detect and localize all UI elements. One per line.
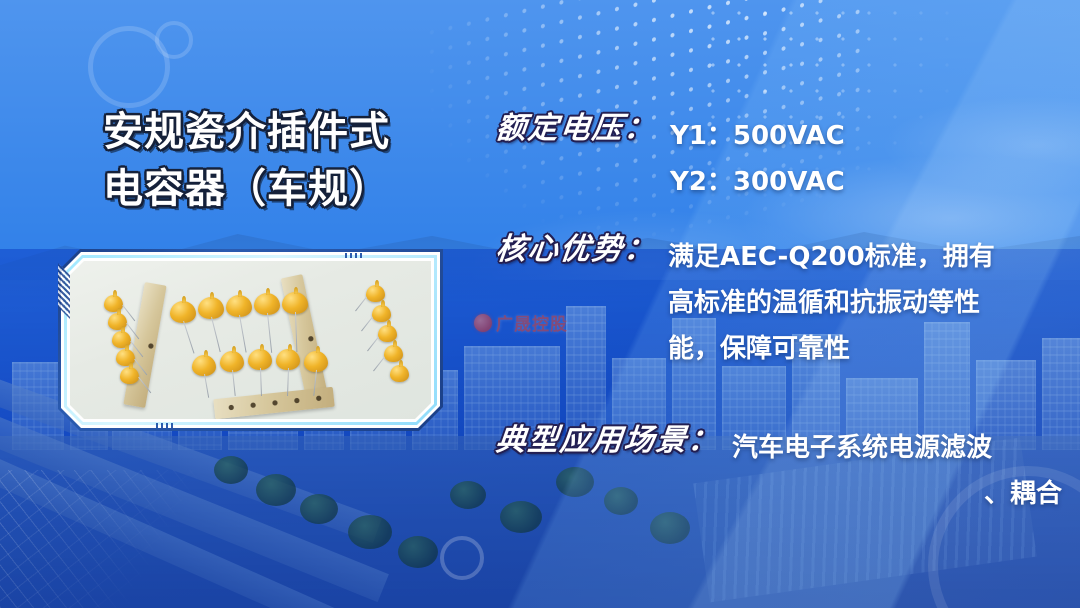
voltage-y2: Y2：300VAC [670, 160, 845, 206]
spec-typical-application-label: 典型应用场景： [494, 424, 721, 457]
advantage-line1: 满足AEC-Q200标准，拥有 [668, 235, 1048, 281]
spec-typical-application-value: 汽车电子系统电源滤波 、耦合 [732, 426, 1062, 518]
product-poster: 广晟控股 安规瓷介插件式 电容器（车规） [0, 0, 1080, 608]
spec-rated-voltage: 额定电压： Y1：500VAC Y2：300VAC [496, 112, 845, 206]
spec-rated-voltage-value: Y1：500VAC Y2：300VAC [670, 114, 845, 206]
application-line1: 汽车电子系统电源滤波 [732, 426, 1062, 472]
advantage-line3: 能，保障可靠性 [668, 327, 1048, 373]
company-logo-icon [474, 314, 492, 332]
frame-tick-marks-bottom [156, 423, 174, 428]
decor-ring-bottom [440, 536, 484, 580]
voltage-y1: Y1：500VAC [670, 114, 845, 160]
page-title-line2: 电容器（车规） [103, 161, 443, 218]
page-title: 安规瓷介插件式 电容器（车规） [103, 104, 443, 218]
advantage-line2: 高标准的温循和抗振动等性 [668, 281, 1048, 327]
product-photo [70, 261, 431, 419]
spec-typical-application: 典型应用场景： 汽车电子系统电源滤波 、耦合 [496, 424, 1080, 518]
page-title-line1: 安规瓷介插件式 [103, 104, 443, 161]
spec-core-advantage: 核心优势： 满足AEC-Q200标准，拥有 高标准的温循和抗振动等性 能，保障可… [496, 233, 1056, 372]
spec-core-advantage-label: 核心优势： [494, 233, 657, 266]
spec-core-advantage-value: 满足AEC-Q200标准，拥有 高标准的温循和抗振动等性 能，保障可靠性 [668, 235, 1048, 372]
application-line2: 、耦合 [732, 472, 1062, 518]
product-image-frame [58, 249, 443, 431]
frame-tick-marks-top [345, 253, 365, 258]
decor-ring-small [155, 21, 193, 59]
spec-rated-voltage-label: 额定电压： [494, 112, 657, 145]
